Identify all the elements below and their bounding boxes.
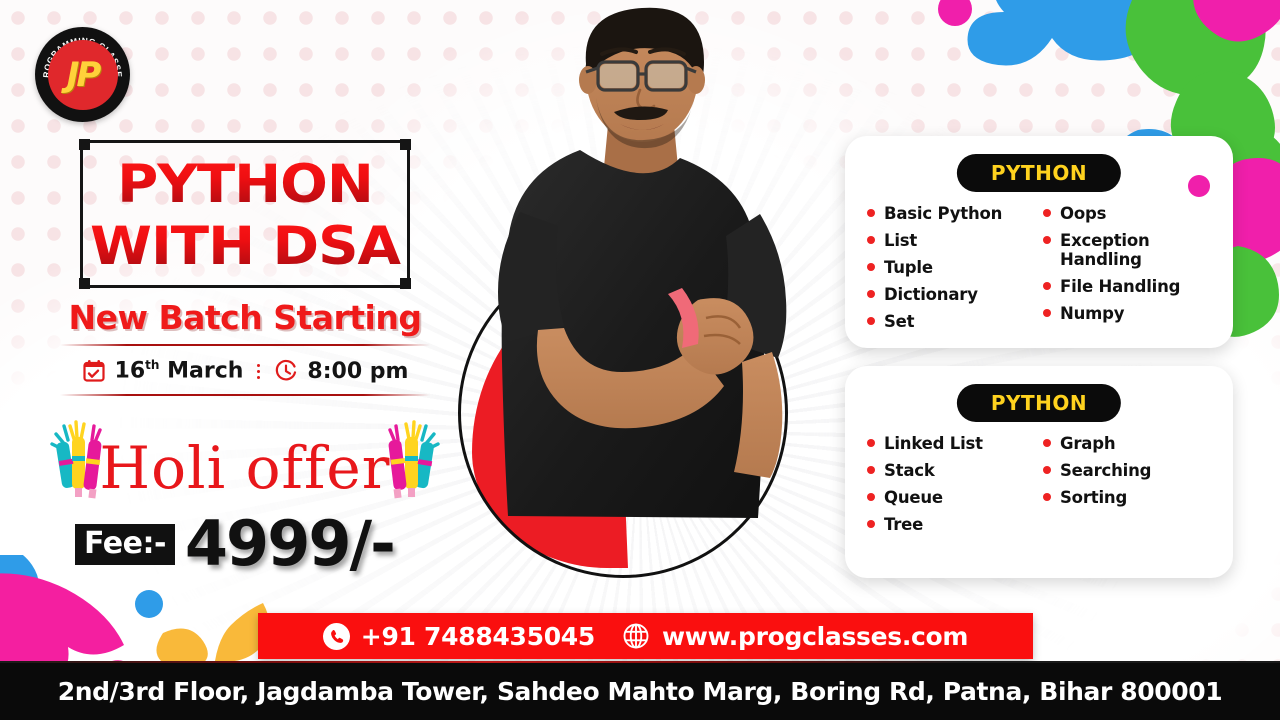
splash-bottom-left-yellow <box>145 595 275 670</box>
bullet-icon <box>1043 282 1051 290</box>
logo-monogram: JP <box>67 55 99 95</box>
corner-marker-top-right <box>400 139 411 150</box>
list-item-label: Searching <box>1060 461 1151 480</box>
list-item: Oops <box>1043 204 1219 223</box>
card-2-columns: Linked List Stack Queue Tree Graph Searc… <box>867 434 1219 542</box>
card-1-columns: Basic Python List Tuple Dictionary Set O… <box>867 204 1219 339</box>
schedule-date: 16th March <box>115 358 244 383</box>
phone-icon <box>323 623 350 650</box>
list-item: Stack <box>867 461 1039 480</box>
divider-top <box>60 344 430 346</box>
corner-marker-bottom-left <box>79 278 90 289</box>
bullet-icon <box>867 493 875 501</box>
list-item: Queue <box>867 488 1039 507</box>
card-2-left-column: Linked List Stack Queue Tree <box>867 434 1039 542</box>
phone-contact[interactable]: +91 7488435045 <box>323 622 595 651</box>
list-item: Searching <box>1043 461 1219 480</box>
logo-inner-disc: JP <box>48 40 118 110</box>
instructor-photo <box>430 0 850 600</box>
list-item: Sorting <box>1043 488 1219 507</box>
fee-row: Fee:- 4999/- <box>75 508 455 580</box>
bullet-icon <box>867 520 875 528</box>
list-item-label: Set <box>884 312 914 331</box>
bullet-icon <box>1043 209 1051 217</box>
list-item-label: Tree <box>884 515 923 534</box>
schedule-time: 8:00 pm <box>307 359 408 384</box>
headline-line-1: PYTHON <box>73 154 416 216</box>
globe-icon <box>621 621 651 651</box>
list-item-label: Stack <box>884 461 935 480</box>
list-item-label: Graph <box>1060 434 1115 453</box>
list-item-label: List <box>884 231 917 250</box>
phone-number: +91 7488435045 <box>361 622 595 651</box>
list-item-label: Tuple <box>884 258 933 277</box>
list-item-label: Queue <box>884 488 943 507</box>
bullet-icon <box>1043 466 1051 474</box>
list-item: Tuple <box>867 258 1039 277</box>
list-item: Basic Python <box>867 204 1039 223</box>
list-item-label: Exception Handling <box>1060 231 1219 269</box>
contact-bar: +91 7488435045 www.progclasses.com <box>258 613 1033 659</box>
card-1-left-column: Basic Python List Tuple Dictionary Set <box>867 204 1039 339</box>
address-text: 2nd/3rd Floor, Jagdamba Tower, Sahdeo Ma… <box>58 677 1222 706</box>
splash-dot-magenta-card <box>1188 175 1210 197</box>
list-item-label: Sorting <box>1060 488 1127 507</box>
list-item: File Handling <box>1043 277 1219 296</box>
bullet-icon <box>1043 236 1051 244</box>
website-url: www.progclasses.com <box>662 622 968 651</box>
clock-icon <box>274 359 298 383</box>
bullet-icon <box>867 263 875 271</box>
list-item: Numpy <box>1043 304 1219 323</box>
bullet-icon <box>867 290 875 298</box>
list-item: List <box>867 231 1039 250</box>
bullet-icon <box>867 209 875 217</box>
holi-offer-block: Holi offer <box>55 425 435 510</box>
bullet-icon <box>867 236 875 244</box>
list-item: Tree <box>867 515 1039 534</box>
holi-offer-title: Holi offer <box>100 439 391 497</box>
bullet-icon <box>867 466 875 474</box>
headline-line-2: WITH DSA <box>73 216 416 278</box>
syllabus-card-2: PYTHON Linked List Stack Queue Tree Grap… <box>845 366 1233 578</box>
fee-amount: 4999/- <box>185 513 394 575</box>
fee-label: Fee:- <box>75 524 175 565</box>
list-item-label: Numpy <box>1060 304 1124 323</box>
list-item: Exception Handling <box>1043 231 1219 269</box>
list-item: Dictionary <box>867 285 1039 304</box>
list-item-label: Dictionary <box>884 285 978 304</box>
instructor-illustration <box>430 0 850 600</box>
list-item: Graph <box>1043 434 1219 453</box>
list-item-label: Basic Python <box>884 204 1002 223</box>
address-bar: 2nd/3rd Floor, Jagdamba Tower, Sahdeo Ma… <box>0 663 1280 720</box>
brand-logo[interactable]: PROGRAMMING CLASSES MOST TRUSTED CODING … <box>35 27 130 122</box>
divider-bottom <box>60 394 430 396</box>
schedule-row: 16th March 8:00 pm <box>60 352 430 390</box>
website-contact[interactable]: www.progclasses.com <box>621 621 968 651</box>
headline-box: PYTHON WITH DSA <box>80 140 410 288</box>
card-1-right-column: Oops Exception Handling File Handling Nu… <box>1043 204 1219 339</box>
card-1-header: PYTHON <box>957 154 1121 192</box>
corner-marker-top-left <box>79 139 90 150</box>
card-2-header: PYTHON <box>957 384 1121 422</box>
corner-marker-bottom-right <box>400 278 411 289</box>
bullet-icon <box>1043 439 1051 447</box>
bullet-icon <box>1043 309 1051 317</box>
list-item-label: File Handling <box>1060 277 1180 296</box>
card-2-right-column: Graph Searching Sorting <box>1043 434 1219 542</box>
list-item-label: Linked List <box>884 434 983 453</box>
poster-canvas: PROGRAMMING CLASSES MOST TRUSTED CODING … <box>0 0 1280 720</box>
list-item: Linked List <box>867 434 1039 453</box>
bullet-icon <box>867 439 875 447</box>
schedule-separator <box>257 364 260 379</box>
calendar-icon <box>82 359 106 383</box>
bullet-icon <box>867 317 875 325</box>
subtitle-new-batch: New Batch Starting <box>60 298 430 337</box>
syllabus-card-1: PYTHON Basic Python List Tuple Dictionar… <box>845 136 1233 348</box>
bullet-icon <box>1043 493 1051 501</box>
list-item-label: Oops <box>1060 204 1106 223</box>
list-item: Set <box>867 312 1039 331</box>
